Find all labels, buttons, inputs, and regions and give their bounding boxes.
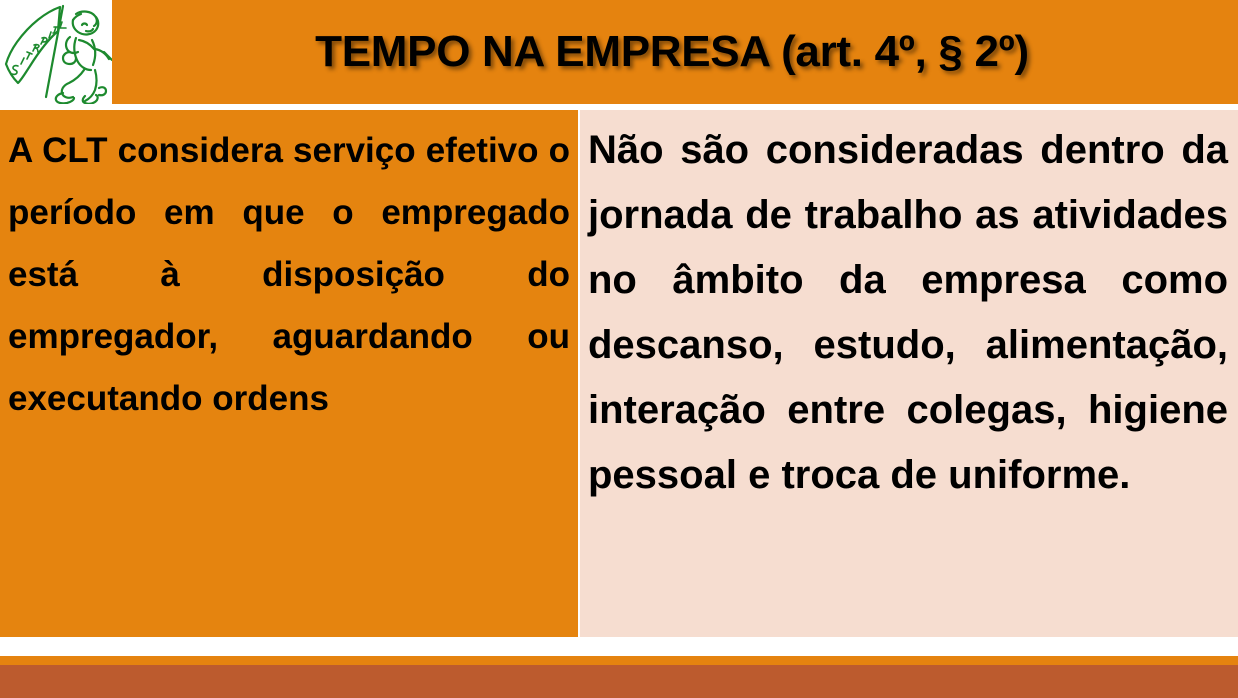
footer-base-band	[0, 665, 1238, 698]
slide: TEMPO NA EMPRESA (art. 4º, § 2º) A CLT c…	[0, 0, 1238, 698]
left-panel: A CLT considera serviço efetivo o períod…	[0, 110, 578, 637]
logo-container	[0, 0, 112, 104]
slide-header: TEMPO NA EMPRESA (art. 4º, § 2º)	[0, 0, 1238, 104]
footer-accent-stripe	[0, 656, 1238, 665]
sitripel-logo-icon	[0, 0, 112, 104]
left-panel-text: A CLT considera serviço efetivo o períod…	[8, 120, 570, 430]
footer-white-gap	[0, 637, 1238, 656]
page-title: TEMPO NA EMPRESA (art. 4º, § 2º)	[112, 0, 1232, 104]
content-area: A CLT considera serviço efetivo o períod…	[0, 110, 1238, 637]
right-panel-text: Não são consideradas dentro da jornada d…	[588, 118, 1228, 508]
right-panel: Não são consideradas dentro da jornada d…	[580, 110, 1238, 637]
